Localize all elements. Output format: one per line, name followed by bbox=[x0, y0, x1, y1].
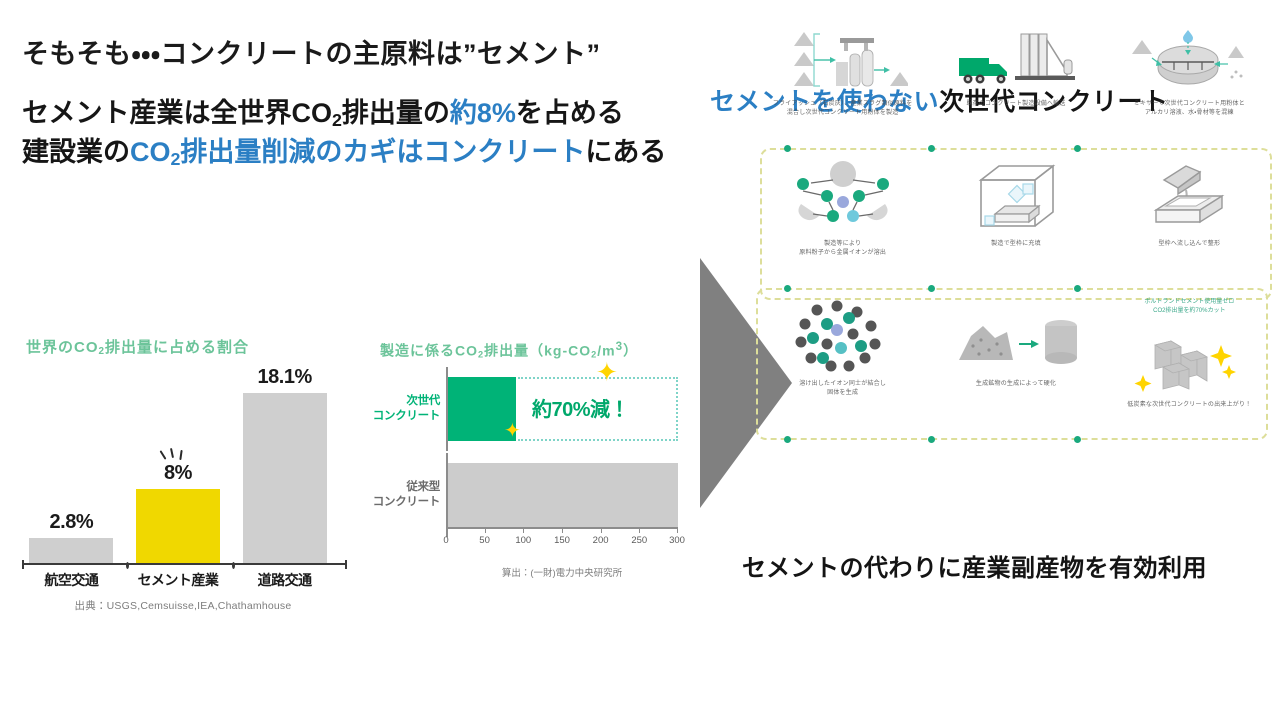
x-tick-label: 150 bbox=[554, 535, 570, 546]
hbar-label-next-gen-line2: コンクリート bbox=[368, 409, 440, 423]
emphasis-burst-icon bbox=[158, 448, 198, 462]
hbar-label-conventional: 従来型 コンクリート bbox=[368, 480, 446, 509]
chart-a-title: 世界のCO2排出量に占める割合 bbox=[26, 336, 360, 357]
headline-line3-part-b: にある bbox=[585, 137, 666, 167]
flow-cell-result: ポルトランドセメント使用量ゼロCO2排出量を約70%カット bbox=[1110, 298, 1268, 410]
x-tick-label: 0 bbox=[443, 535, 448, 546]
co2-subscript: 2 bbox=[332, 110, 342, 130]
hbar-label-conventional-line1: 従来型 bbox=[368, 480, 440, 494]
hbar-label-next-gen-line1: 次世代 bbox=[368, 394, 440, 408]
bar-value-cement-industry: 8% bbox=[164, 462, 192, 485]
headline-line2-part-c: を占める bbox=[516, 98, 624, 128]
process-flow-diagram: フライアッシュ（石炭灰）、産業スラグ類似原料を混合し次世代コンクリート用粉体を製… bbox=[756, 140, 1276, 540]
chart-b-title: 製造に係るCO2排出量（kg-CO2/m3） bbox=[380, 340, 708, 361]
flow-node-dot bbox=[784, 285, 791, 292]
ion-lattice-icon bbox=[783, 298, 903, 374]
bar-road-transport bbox=[243, 393, 327, 565]
hbar-label-conventional-line2: コンクリート bbox=[368, 495, 440, 509]
hbar-track-conventional bbox=[446, 463, 678, 527]
reduction-annotation: 約70%減！ bbox=[532, 393, 629, 422]
flow-row-2: 製造等により原料粉子から金属イオンが溶出 bbox=[756, 158, 1276, 258]
flow-caption-mixer: ミキサーで次世代コンクリート用粉体とアルカリ溶液、水・骨材等を混練 bbox=[1134, 100, 1245, 118]
flow-node-dot bbox=[1074, 145, 1081, 152]
flow-caption-molecule: 製造等により原料粉子から金属イオンが溶出 bbox=[799, 240, 886, 258]
x-tick-label: 100 bbox=[515, 535, 531, 546]
x-tick bbox=[677, 527, 678, 533]
chart-b-title-part-b: 排出量（kg-CO bbox=[484, 343, 591, 359]
chart-a-plot-area: 2.8% 8% 18.1% bbox=[18, 375, 338, 565]
bar-column-cement-industry: 8% bbox=[132, 448, 224, 565]
flow-cell-pour: 型枠へ流し込んで整形 bbox=[1110, 158, 1268, 258]
x-axis-tick bbox=[126, 562, 129, 569]
sparkle-icon: ✦ bbox=[504, 421, 521, 441]
flow-cell-mixer: ミキサーで次世代コンクリート用粉体とアルカリ溶液、水・骨材等を混練 bbox=[1110, 18, 1268, 118]
flow-node-dot bbox=[1074, 285, 1081, 292]
headline-block: そもそも・・・コンクリートの主原料は”セメント” セメント産業は全世界CO2排出… bbox=[22, 38, 702, 173]
flow-node-dot bbox=[784, 436, 791, 443]
chart-world-co2-share: 世界のCO2排出量に占める割合 2.8% 8% 18.1% 航空交通 セメ bbox=[8, 336, 360, 616]
molecule-network-icon bbox=[783, 158, 903, 234]
flow-node-dot bbox=[928, 285, 935, 292]
flow-cell-molecule: 製造等により原料粉子から金属イオンが溶出 bbox=[764, 158, 922, 258]
chart-manufacturing-co2: 製造に係るCO2排出量（kg-CO2/m3） 次世代 コンクリート 約70%減！… bbox=[368, 340, 708, 615]
hbar-label-next-gen: 次世代 コンクリート bbox=[368, 394, 446, 423]
flow-caption-mold-cube: 製造で型枠に充填 bbox=[991, 240, 1041, 249]
category-label-road-transport: 道路交通 bbox=[239, 570, 331, 590]
chart-a-x-axis bbox=[22, 563, 346, 565]
flow-caption-green-result: ポルトランドセメント使用量ゼロCO2排出量を約70%カット bbox=[1144, 298, 1234, 316]
flow-cell-fly-ash: フライアッシュ（石炭灰）、産業スラグ類似原料を混合し次世代コンクリート用粉体を製… bbox=[764, 18, 922, 118]
headline-line3-co2-subscript: 2 bbox=[171, 149, 181, 169]
headline-line3-co2: CO bbox=[130, 137, 171, 167]
fly-ash-silo-icon bbox=[778, 18, 908, 94]
flow-row-1: フライアッシュ（石炭灰）、産業スラグ類似原料を混合し次世代コンクリート用粉体を製… bbox=[756, 18, 1276, 118]
chart-a-title-part-b: 排出量に占める割合 bbox=[105, 339, 249, 356]
bar-value-road-transport: 18.1% bbox=[258, 366, 312, 389]
sparkle-icon: ✦ bbox=[596, 359, 618, 385]
flow-cell-ion-lattice: 溶け出したイオン同士が結合し固体を生成 bbox=[764, 298, 922, 410]
chart-b-title-superscript: 3 bbox=[616, 340, 623, 353]
bar-column-road-transport: 18.1% bbox=[239, 366, 331, 565]
flow-node-dot bbox=[928, 145, 935, 152]
rock-to-cylinder-icon bbox=[951, 298, 1081, 374]
headline-line2-part-b: 排出量の bbox=[342, 98, 450, 128]
flow-cell-transport: 既存のコンクリート製造設備へ輸送 bbox=[937, 18, 1095, 118]
flow-cell-harden: 生成鉱物の生成によって硬化 bbox=[937, 298, 1095, 410]
chart-b-x-tick-labels: 0 50 100 150 200 250 300 bbox=[446, 535, 678, 549]
flow-caption-ion-lattice: 溶け出したイオン同士が結合し固体を生成 bbox=[799, 380, 886, 398]
x-tick bbox=[562, 527, 563, 533]
x-tick-label: 250 bbox=[631, 535, 647, 546]
chart-b-x-axis bbox=[446, 527, 678, 529]
bar-value-air-transport: 2.8% bbox=[50, 511, 94, 534]
flow-node-dot bbox=[784, 145, 791, 152]
flow-caption-pour: 型枠へ流し込んで整形 bbox=[1158, 240, 1220, 249]
headline-line-1: そもそも・・・コンクリートの主原料は”セメント” bbox=[22, 38, 702, 72]
flow-cell-mold-cube: 製造で型枠に充填 bbox=[937, 158, 1095, 258]
truck-factory-icon bbox=[951, 18, 1081, 94]
flow-caption-transport: 既存のコンクリート製造設備へ輸送 bbox=[966, 100, 1065, 109]
blocks-sparkle-icon bbox=[1129, 319, 1249, 395]
bar-air-transport bbox=[29, 538, 113, 565]
slide-root: そもそも・・・コンクリートの主原料は”セメント” セメント産業は全世界CO2排出… bbox=[0, 0, 1280, 720]
x-tick-label: 300 bbox=[669, 535, 685, 546]
chart-b-y-axis-lower bbox=[446, 453, 448, 537]
flow-node-dot bbox=[928, 436, 935, 443]
category-label-air-transport: 航空交通 bbox=[25, 570, 117, 590]
hbar-track-next-gen: 約70%減！ ✦ ✦ bbox=[446, 377, 678, 441]
chart-a-title-part-a: 世界のCO bbox=[26, 339, 99, 356]
flow-row-3: 溶け出したイオン同士が結合し固体を生成 bbox=[756, 298, 1276, 410]
x-tick bbox=[639, 527, 640, 533]
x-tick bbox=[523, 527, 524, 533]
pour-mold-icon bbox=[1134, 158, 1244, 234]
x-tick-label: 200 bbox=[593, 535, 609, 546]
headline-highlight-8pct: 約8% bbox=[450, 98, 516, 128]
chart-b-title-part-a: 製造に係るCO bbox=[380, 343, 478, 359]
headline-line-3: 建設業のCO2排出量削減のカギはコンクリートにある bbox=[22, 133, 702, 173]
x-tick bbox=[446, 527, 447, 533]
headline-line3-highlight: 排出量削減のカギはコンクリート bbox=[180, 137, 585, 167]
category-label-cement-industry: セメント産業 bbox=[132, 570, 224, 590]
mold-cube-icon bbox=[961, 158, 1071, 234]
headline-line3-part-a: 建設業の bbox=[22, 137, 130, 167]
hbar-row-next-gen: 次世代 コンクリート 約70%減！ ✦ ✦ bbox=[368, 377, 708, 441]
chart-b-source: 算出：(一財)電力中央研究所 bbox=[446, 565, 678, 579]
hbar-conventional bbox=[446, 463, 678, 527]
chart-a-category-labels: 航空交通 セメント産業 道路交通 bbox=[18, 570, 338, 590]
x-tick-label: 50 bbox=[479, 535, 490, 546]
x-tick bbox=[601, 527, 602, 533]
chart-b-y-axis bbox=[446, 367, 448, 451]
chart-a-source: 出典：USGS,Cemsuisse,IEA,Chathamhouse bbox=[18, 598, 348, 613]
x-axis-tick bbox=[232, 562, 235, 569]
x-tick bbox=[485, 527, 486, 533]
flow-caption-fly-ash: フライアッシュ（石炭灰）、産業スラグ類似原料を混合し次世代コンクリート用粉体を製… bbox=[773, 100, 913, 118]
flow-node-dot bbox=[1074, 436, 1081, 443]
right-panel: セメントを使わない次世代コンクリート bbox=[700, 82, 1276, 602]
bar-column-air-transport: 2.8% bbox=[25, 511, 117, 565]
chart-b-plot-area: 次世代 コンクリート 約70%減！ ✦ ✦ 従来型 コンクリート bbox=[368, 377, 708, 577]
hbar-row-conventional: 従来型 コンクリート bbox=[368, 463, 708, 527]
flow-caption-harden: 生成鉱物の生成によって硬化 bbox=[976, 380, 1056, 389]
chart-b-title-part-d: ） bbox=[623, 343, 638, 359]
mixer-tank-icon bbox=[1124, 18, 1254, 94]
headline-line-2: セメント産業は全世界CO2排出量の約8%を占める bbox=[22, 94, 702, 134]
headline-line2-part-a: セメント産業は全世界CO bbox=[22, 98, 332, 128]
bottom-note: セメントの代わりに産業副産物を有効利用 bbox=[742, 548, 1280, 583]
bar-cement-industry bbox=[136, 489, 220, 565]
flow-caption-result: 低炭素な次世代コンクリートの出来上がり！ bbox=[1127, 401, 1251, 410]
